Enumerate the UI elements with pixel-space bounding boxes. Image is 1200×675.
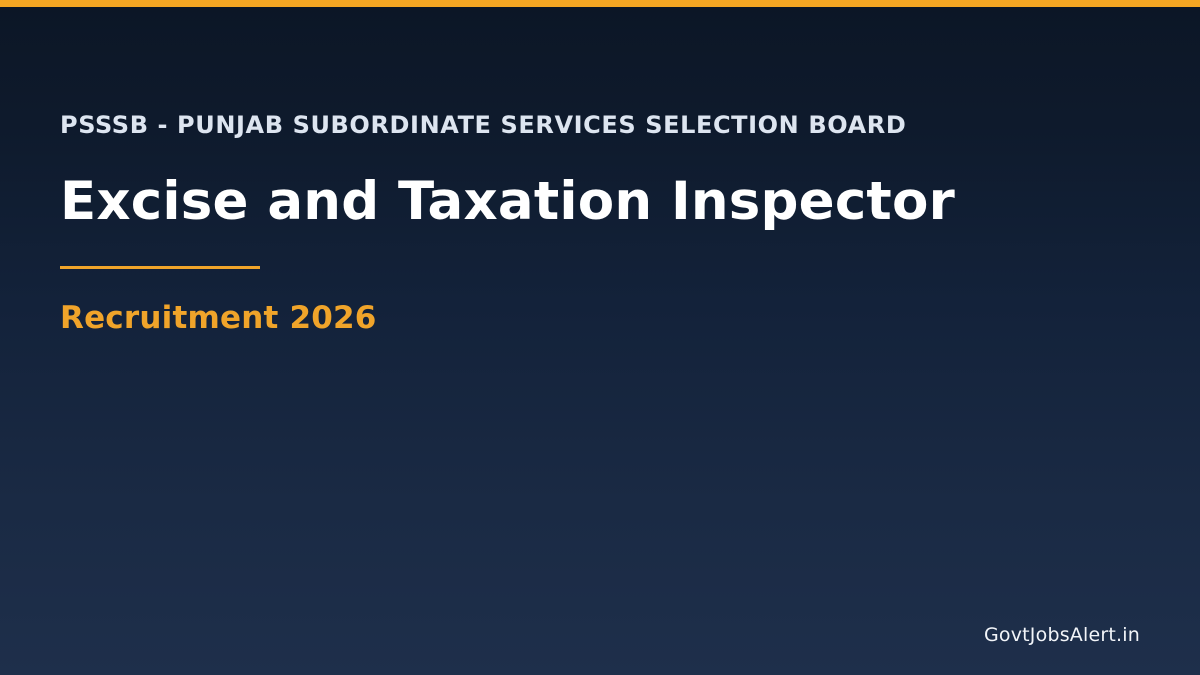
recruitment-banner: PSSSB - PUNJAB SUBORDINATE SERVICES SELE… [0, 0, 1200, 675]
top-accent-bar [0, 0, 1200, 7]
page-title: Excise and Taxation Inspector [60, 172, 1140, 231]
recruitment-subtitle: Recruitment 2026 [60, 301, 1140, 337]
organization-name: PSSSB - PUNJAB SUBORDINATE SERVICES SELE… [60, 112, 1140, 140]
title-divider [60, 266, 260, 269]
banner-content: PSSSB - PUNJAB SUBORDINATE SERVICES SELE… [60, 112, 1140, 337]
site-watermark: GovtJobsAlert.in [984, 626, 1140, 645]
